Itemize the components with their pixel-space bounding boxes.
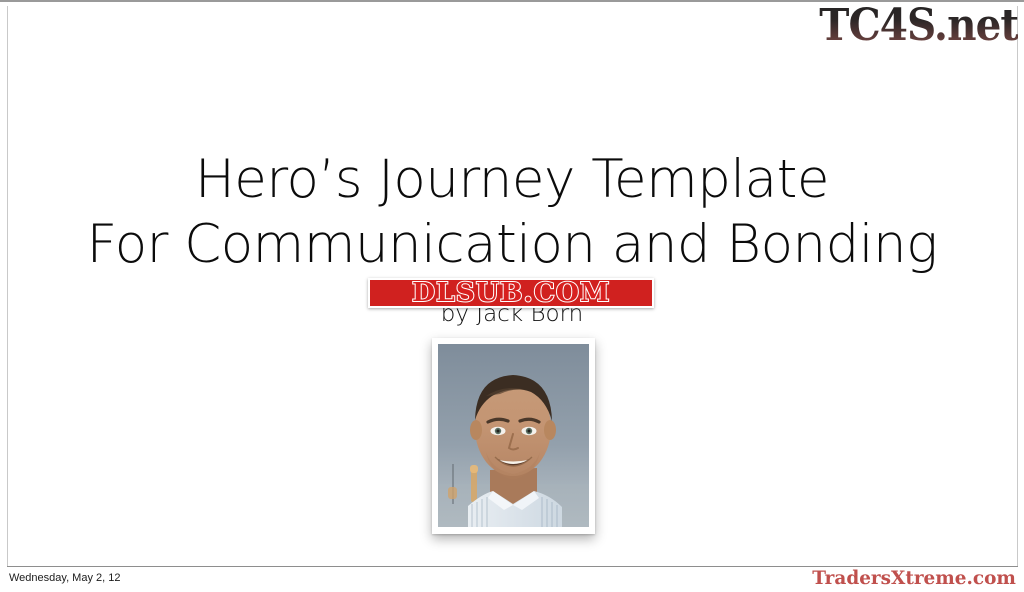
slide-title-line-2: For Communication and Bonding bbox=[0, 212, 1024, 278]
presentation-slide: Hero’s Journey Template For Communicatio… bbox=[0, 0, 1024, 592]
author-portrait-photo bbox=[432, 338, 595, 534]
slide-footer-date: Wednesday, May 2, 12 bbox=[9, 571, 121, 585]
slide-frame-right-rule bbox=[1017, 6, 1018, 566]
author-portrait-image bbox=[438, 344, 589, 527]
dlsub-watermark-text: DLSUB.COM bbox=[412, 280, 610, 306]
slide-title-line-1: Hero’s Journey Template bbox=[0, 148, 1024, 212]
slide-title: Hero’s Journey Template For Communicatio… bbox=[0, 148, 1024, 278]
tc4s-watermark: TC4S.net bbox=[819, 2, 1018, 50]
slide-frame-left-rule bbox=[7, 6, 8, 566]
tradersxtreme-watermark: TradersXtreme.com bbox=[812, 567, 1016, 589]
dlsub-watermark: DLSUB.COM bbox=[368, 278, 654, 308]
